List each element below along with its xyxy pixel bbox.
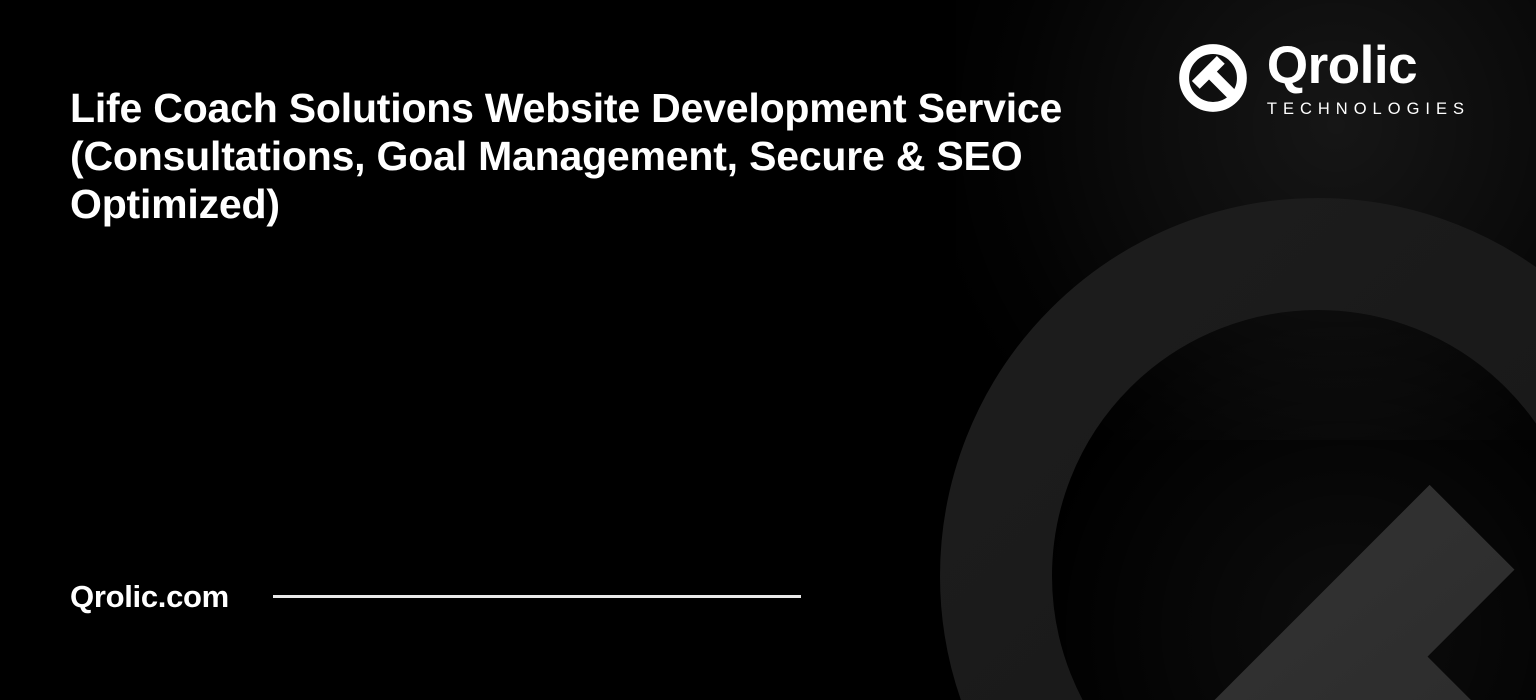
footer: Qrolic.com xyxy=(70,581,801,612)
footer-website-url[interactable]: Qrolic.com xyxy=(70,581,229,612)
page-title: Life Coach Solutions Website Development… xyxy=(70,84,1080,228)
promo-banner: Qrolic TECHNOLOGIES Life Coach Solutions… xyxy=(0,0,1536,700)
logo-text-block: Qrolic TECHNOLOGIES xyxy=(1267,38,1470,117)
qrolic-logo-watermark xyxy=(938,196,1536,700)
qrolic-q-arrow-icon xyxy=(1175,40,1251,116)
brand-logo[interactable]: Qrolic TECHNOLOGIES xyxy=(1175,38,1470,117)
logo-wordmark: Qrolic xyxy=(1267,40,1417,92)
footer-divider-rule xyxy=(273,595,801,598)
logo-tagline: TECHNOLOGIES xyxy=(1267,101,1470,118)
corner-glow-bottom-right xyxy=(1036,320,1536,700)
